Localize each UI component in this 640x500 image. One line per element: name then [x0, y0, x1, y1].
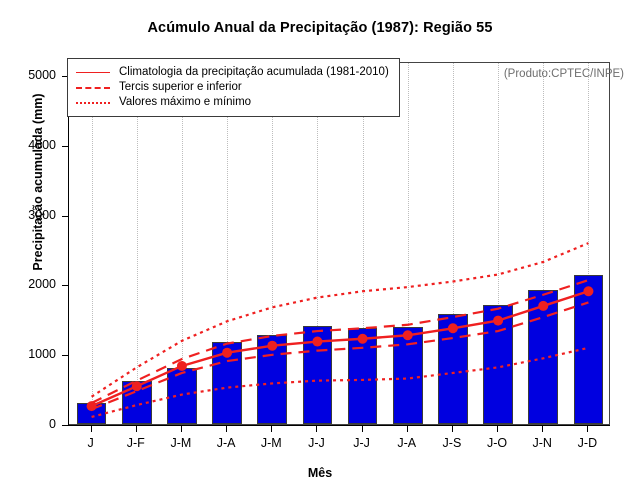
y-tick	[62, 285, 68, 286]
legend-line-dashed-icon	[76, 83, 110, 93]
x-tick	[497, 425, 498, 432]
x-tick-label-J-D: J-D	[557, 436, 617, 450]
series-tercil-inferior	[92, 302, 589, 409]
legend-item-max-min: Valores máximo e mínimo	[76, 95, 389, 110]
data-point	[403, 330, 413, 340]
legend-label: Tercis superior e inferior	[119, 81, 242, 94]
legend-item-climatologia: Climatologia da precipitação acumulada (…	[76, 65, 389, 80]
y-tick	[62, 146, 68, 147]
data-point	[267, 341, 277, 351]
legend-line-solid-icon	[76, 68, 110, 78]
x-tick	[452, 425, 453, 432]
series-valor-m-nimo	[92, 348, 589, 417]
data-point	[448, 323, 458, 333]
data-point	[583, 286, 593, 296]
legend-label: Climatologia da precipitação acumulada (…	[119, 66, 389, 79]
data-point	[312, 337, 322, 347]
data-point	[222, 348, 232, 358]
y-tick	[62, 216, 68, 217]
series-tercil-superior	[92, 280, 589, 403]
y-tick	[62, 355, 68, 356]
x-tick	[91, 425, 92, 432]
legend-item-tercis: Tercis superior e inferior	[76, 80, 389, 95]
x-tick	[542, 425, 543, 432]
x-axis-line	[68, 425, 610, 426]
legend-label: Valores máximo e mínimo	[119, 96, 251, 109]
x-tick	[271, 425, 272, 432]
legend: Climatologia da precipitação acumulada (…	[67, 58, 400, 117]
chart-title: Acúmulo Anual da Precipitação (1987): Re…	[0, 20, 640, 36]
chart-root: Acúmulo Anual da Precipitação (1987): Re…	[0, 0, 640, 500]
x-tick	[136, 425, 137, 432]
legend-line-dotted-icon	[76, 98, 110, 108]
x-axis-title: Mês	[0, 466, 640, 480]
data-point	[177, 361, 187, 371]
x-tick	[226, 425, 227, 432]
x-tick	[181, 425, 182, 432]
product-annotation: (Produto:CPTEC/INPE)	[504, 68, 624, 80]
x-tick	[587, 425, 588, 432]
data-point	[493, 316, 503, 326]
y-tick-label: 1000	[8, 347, 56, 361]
y-axis-title: Precipitação acumulada (mm)	[31, 62, 45, 302]
y-tick	[62, 425, 68, 426]
y-tick-label: 0	[8, 417, 56, 431]
x-tick	[362, 425, 363, 432]
x-tick	[316, 425, 317, 432]
data-point	[358, 334, 368, 344]
series-overlay	[69, 63, 611, 426]
data-point	[538, 301, 548, 311]
x-tick	[407, 425, 408, 432]
